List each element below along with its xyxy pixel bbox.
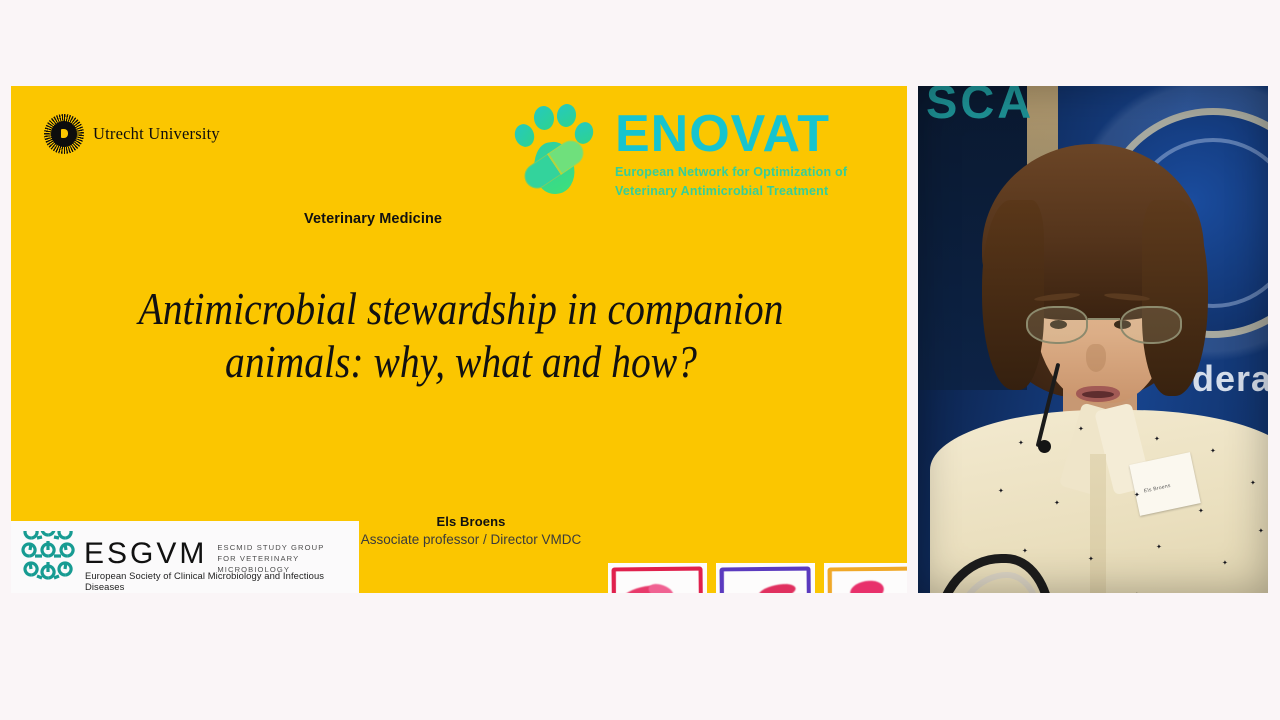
artwork-frame-red [608,563,707,593]
speaker-figure: Els Broens ✦ ✦ ✦ ✦ ✦ ✦ ✦ ✦ ✦ ✦ ✦ ✦ ✦ ✦ ✦… [958,148,1258,593]
presenter-role: Associate professor / Director VMDC [311,532,631,547]
esgvm-logo: ESGVM ESCMID STUDY GROUP FOR VETERINARY … [11,521,359,593]
nose [1086,344,1106,372]
artwork-frame-orange [824,563,907,593]
enovat-subtitle-line-1: European Network for Optimization of [615,163,847,181]
esgvm-group-line-2: FOR VETERINARY [217,553,324,564]
faculty-label: Veterinary Medicine [304,211,442,227]
slide-title: Antimicrobial stewardship in companion a… [118,283,804,389]
headset-mic-capsule [1038,440,1051,453]
esgvm-group-line-1: ESCMID STUDY GROUP [217,542,324,553]
eyeglasses-icon [1026,306,1184,346]
presentation-screenshot: Utrecht University Veterinary Medicine E… [0,0,1280,720]
name-badge-text: Els Broens [1143,483,1171,495]
artwork-frame-purple [716,563,815,593]
hair-right [1142,200,1208,396]
enovat-brand-text: ENOVAT [615,110,847,159]
molecule-lattice-icon [21,531,75,583]
esgvm-acronym: ESGVM [84,539,207,569]
enovat-subtitle-line-2: Veterinary Antimicrobial Treatment [615,182,847,200]
presenter-block: Els Broens Associate professor / Directo… [311,514,631,547]
presentation-slide: Utrecht University Veterinary Medicine E… [11,86,907,593]
presenter-name: Els Broens [311,514,631,529]
utrecht-university-logo: Utrecht University [44,114,220,154]
paw-print-capsule-icon [509,100,601,192]
speaker-video-panel[interactable]: SCA dera Els Broens [918,86,1268,593]
utrecht-sun-emblem-icon [44,114,84,154]
esgvm-tagline: European Society of Clinical Microbiolog… [85,570,359,592]
hair-left [982,200,1044,390]
slide-title-line-1: Antimicrobial stewardship in companion [118,283,804,336]
artwork-frames [608,563,907,593]
slide-title-line-2: animals: why, what and how? [118,336,804,389]
mouth [1076,386,1120,402]
backdrop-text-left: SCA [926,86,1034,129]
utrecht-university-label: Utrecht University [93,124,220,144]
sponsor-logo-bar: federal public service HEALTH, FOOD CHAI… [0,598,1280,720]
blouse-placket [1090,454,1106,593]
enovat-logo: ENOVAT European Network for Optimization… [509,100,847,200]
